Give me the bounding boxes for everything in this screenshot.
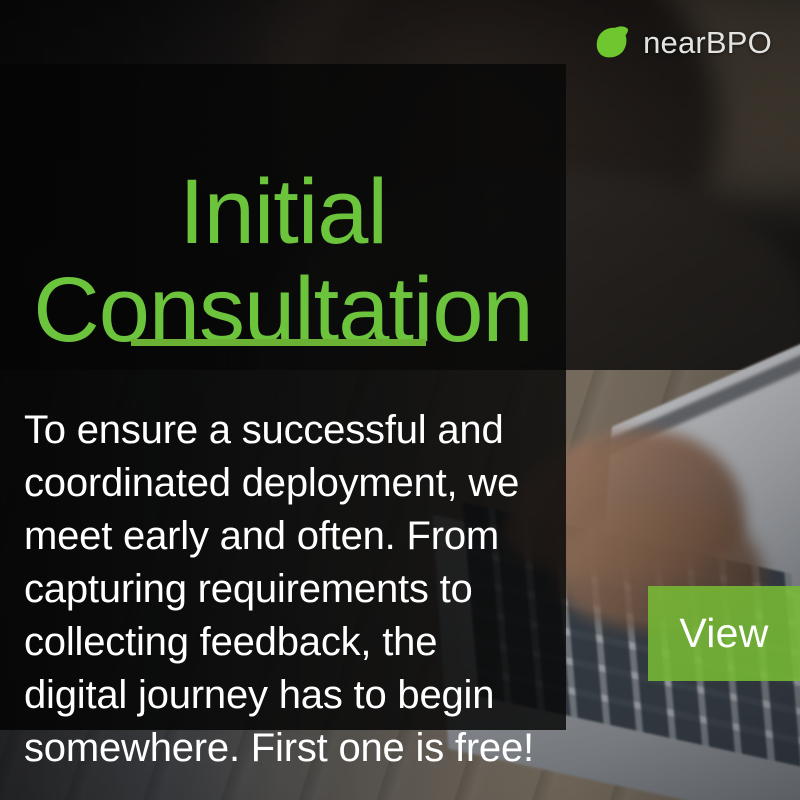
brand-logo[interactable]: nearBPO bbox=[591, 22, 772, 64]
body-paragraph: To ensure a successful and coordinated d… bbox=[24, 404, 544, 775]
view-button-label: View bbox=[679, 610, 768, 657]
title-divider bbox=[131, 339, 426, 346]
page-title-line-1: Initial bbox=[16, 166, 550, 258]
promo-banner: nearBPO Initial Consultation To ensure a… bbox=[0, 0, 800, 800]
view-button[interactable]: View bbox=[648, 586, 800, 681]
leaf-icon bbox=[591, 22, 633, 64]
brand-name: nearBPO bbox=[643, 25, 772, 61]
page-title: Initial Consultation bbox=[0, 166, 566, 356]
